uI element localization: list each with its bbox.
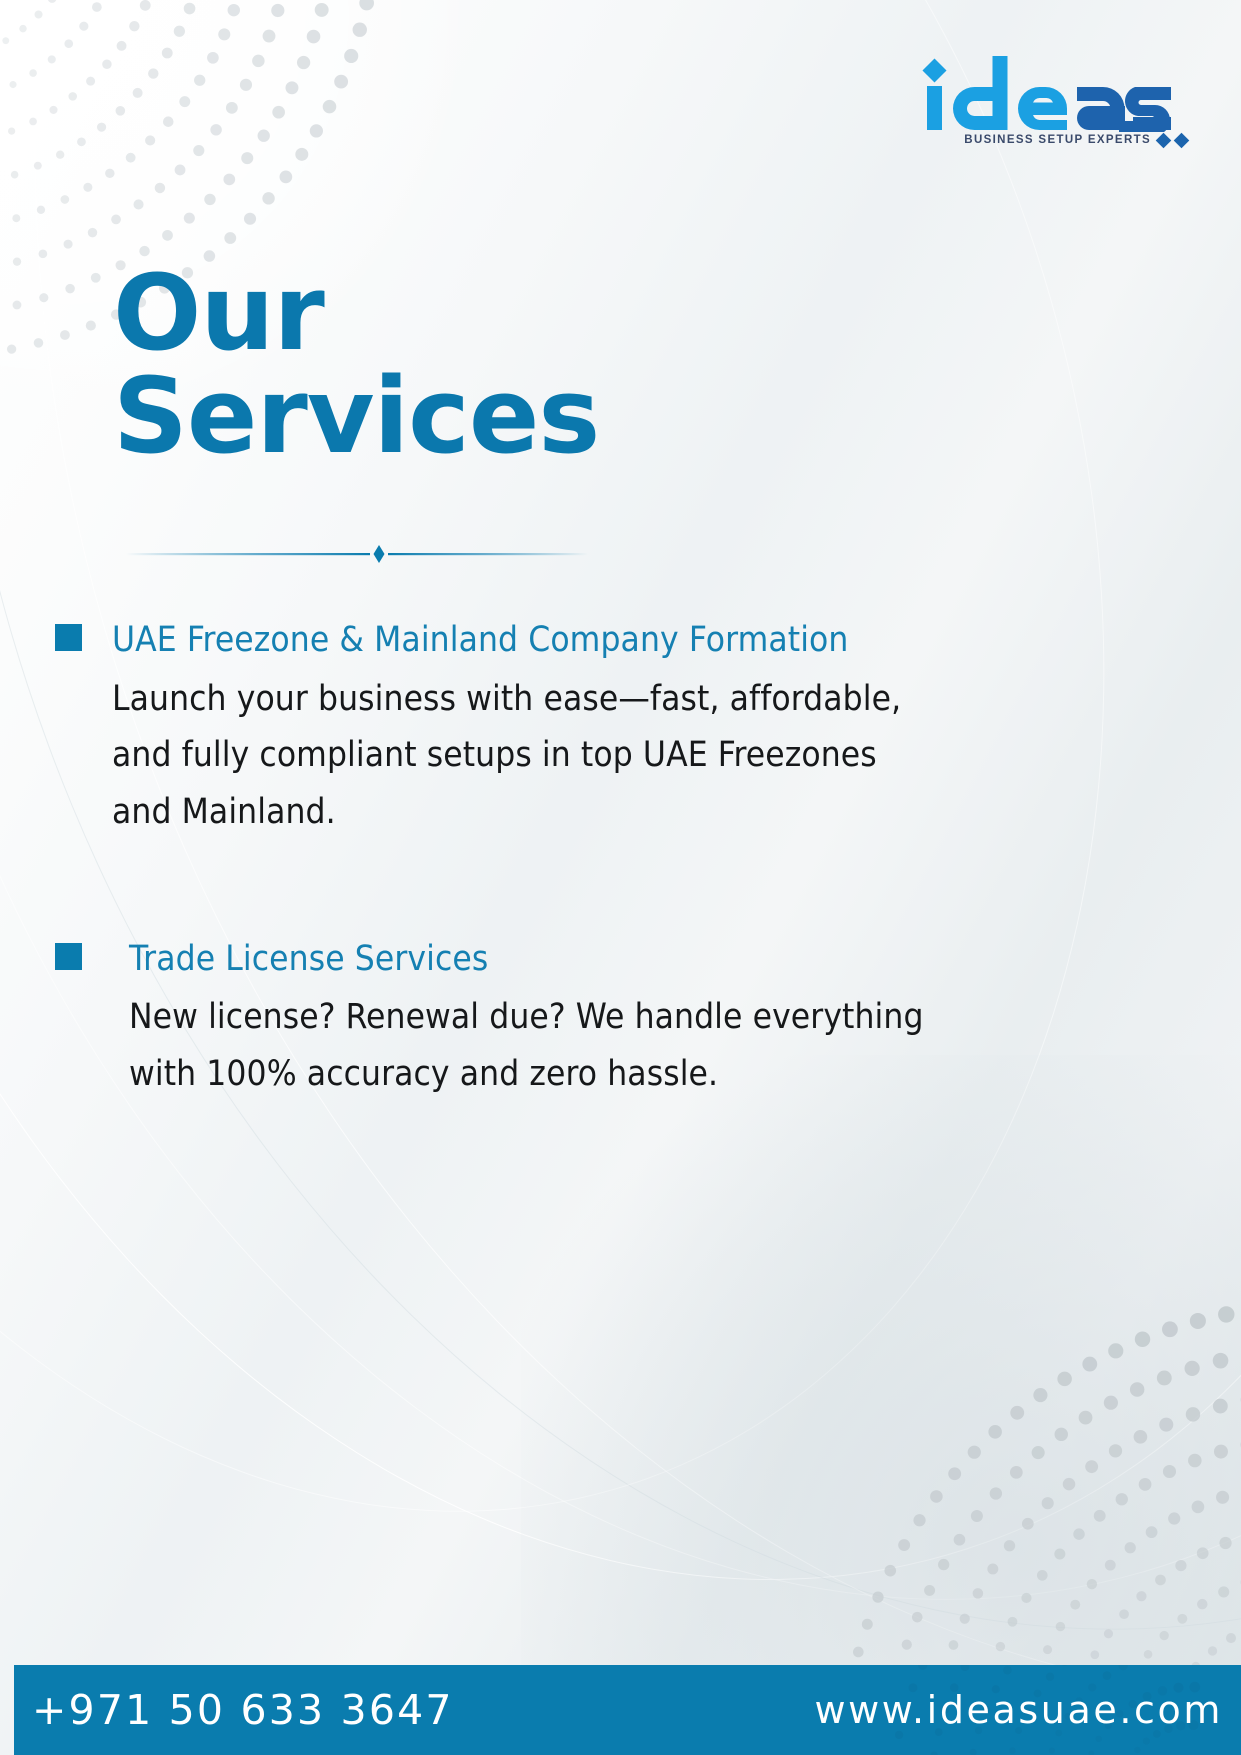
bottom-right-shade xyxy=(521,1055,1241,1755)
bullet-square-icon-2 xyxy=(55,943,82,970)
services-list: UAE Freezone & Mainland Company Formatio… xyxy=(55,612,935,1103)
logo-tagline-row: BUSINESS SETUP EXPERTS xyxy=(917,134,1189,146)
service-heading-1: UAE Freezone & Mainland Company Formatio… xyxy=(112,612,935,669)
brand-logo: BUSINESS SETUP EXPERTS xyxy=(917,56,1189,146)
logo-wordmark-icon xyxy=(917,56,1189,132)
service-description-1: Launch your business with ease—fast, aff… xyxy=(112,671,935,841)
page-title-line-1: Our xyxy=(113,262,1013,365)
service-heading-2: Trade License Services xyxy=(129,931,935,988)
service-body-1: UAE Freezone & Mainland Company Formatio… xyxy=(55,612,935,841)
logo-diamond-icon-1 xyxy=(1156,132,1172,148)
page-title-line-2: Services xyxy=(113,365,1013,468)
footer-website-url[interactable]: www.ideasuae.com xyxy=(814,1688,1241,1732)
bullet-square-icon-1 xyxy=(55,624,82,651)
service-body-2: Trade License Services New license? Rene… xyxy=(55,931,935,1103)
poster-canvas: BUSINESS SETUP EXPERTS Our Services xyxy=(0,0,1241,1755)
logo-tagline: BUSINESS SETUP EXPERTS xyxy=(964,134,1151,146)
title-divider xyxy=(126,542,588,566)
service-description-2: New license? Renewal due? We handle ever… xyxy=(129,989,935,1102)
footer-contact-bar: +971 50 633 3647 www.ideasuae.com xyxy=(14,1665,1241,1755)
logo-diamond-icon-2 xyxy=(1174,132,1190,148)
service-item-1: UAE Freezone & Mainland Company Formatio… xyxy=(55,612,935,841)
page-title: Our Services xyxy=(113,262,1013,468)
footer-phone-number[interactable]: +971 50 633 3647 xyxy=(14,1686,454,1734)
service-item-2: Trade License Services New license? Rene… xyxy=(55,931,935,1103)
